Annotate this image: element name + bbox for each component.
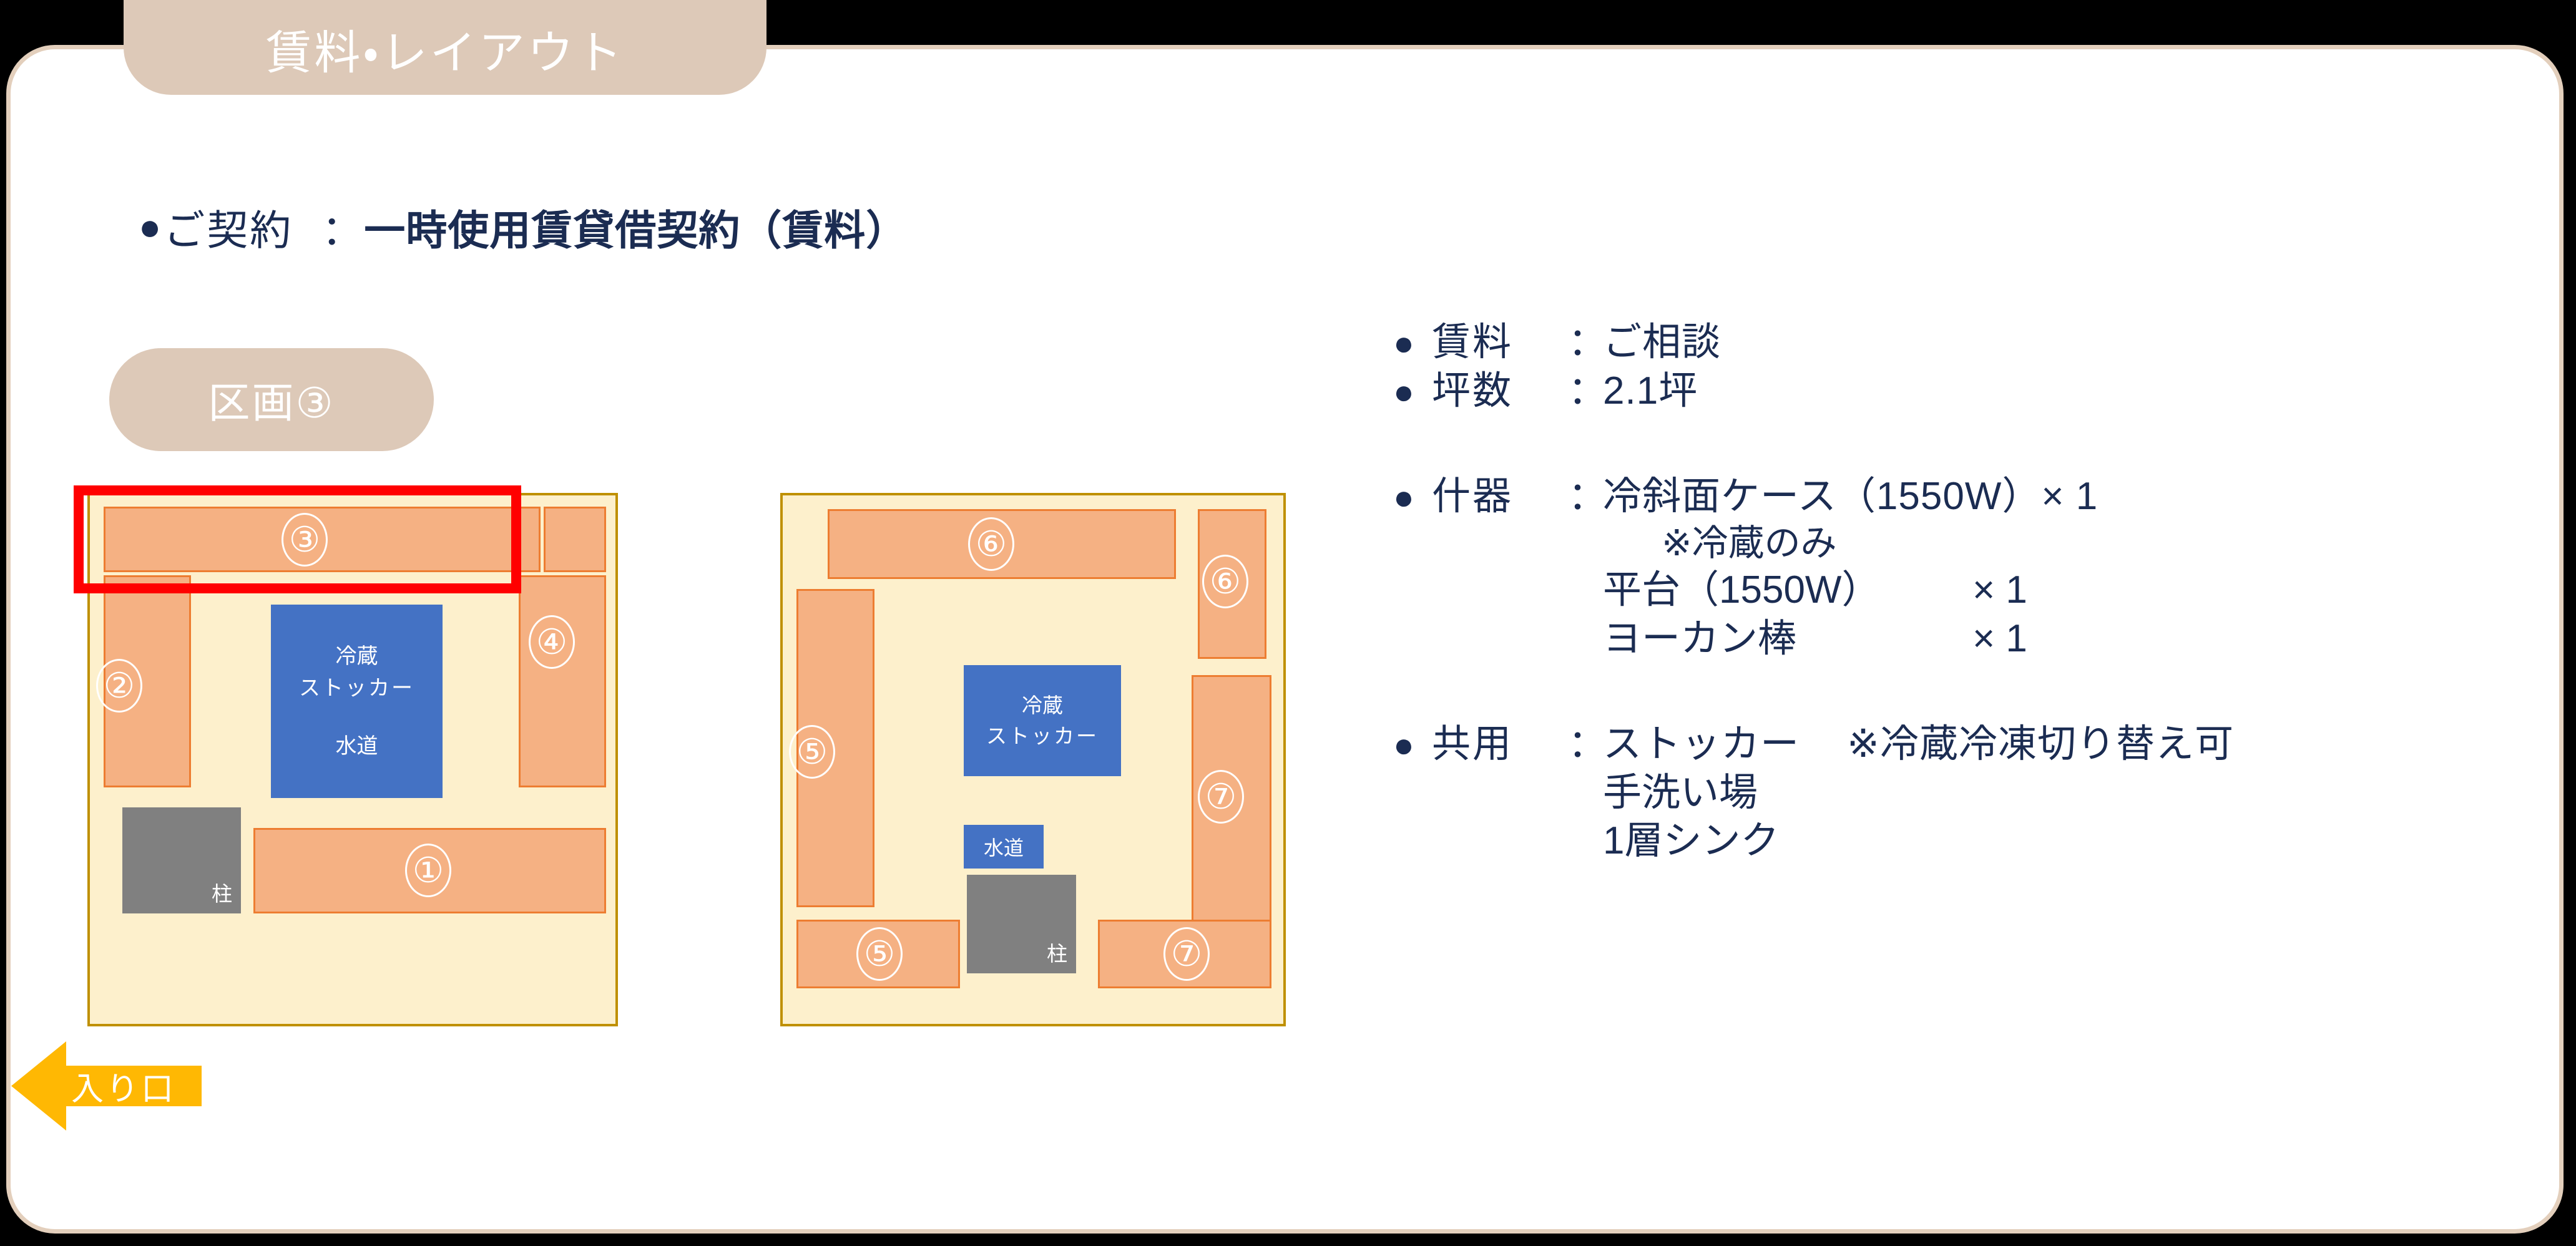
zone-number-7-bottom: ⑦ [1163,927,1210,981]
fixtures-note: ※冷蔵のみ [1393,521,2234,567]
cold-stocker-label-1: 冷蔵 [336,641,378,673]
zone-number-5-left: ⑤ [789,725,835,779]
water-supply-label: 水道 [336,731,378,762]
fixture-item-1-name: 平台（1550W） [1603,566,1972,615]
detail-row-fixture-2: ヨーカン棒× 1 [1393,615,2234,663]
zone-number-7-right: ⑦ [1198,770,1244,824]
zone-number-6-top: ⑥ [968,517,1014,571]
bullet-icon: ● [1393,480,1432,515]
contract-heading: ● ご契約 ： 一時使用賃貸借契約（賃料） [139,197,908,257]
tsubo-colon: ： [1568,367,1603,416]
rent-value: ご相談 [1603,318,1721,367]
zone-3-highlight-box [74,485,521,593]
zone-number-6-right: ⑥ [1202,555,1248,608]
shelf-zone-4-top [544,507,606,572]
rent-colon: ： [1568,318,1603,367]
pillar-box: 柱 [122,807,241,913]
fixtures-colon: ： [1568,472,1603,521]
entrance-label: 入り口 [71,1063,176,1109]
detail-row-rent: ● 賃料 ： ご相談 [1393,318,2234,367]
entrance-arrow: 入り口 [11,1038,202,1134]
zone-number-1: ① [405,844,451,897]
tsubo-label: 坪数 [1432,367,1568,416]
detail-row-tsubo: ● 坪数 ： 2.1坪 [1393,367,2234,416]
detail-row-shared: ● 共用 ： ストッカー※冷蔵冷凍切り替え可 [1393,720,2234,769]
tsubo-value: 2.1坪 [1603,367,1698,416]
details-panel: ● 賃料 ： ご相談 ● 坪数 ： 2.1坪 ● 什器 ： 冷斜面ケース（155… [1393,318,2234,865]
zone-number-5-bottom: ⑤ [856,927,903,981]
block-badge-label: 区画③ [208,369,335,430]
cold-stocker-label-2: ストッカー [299,673,414,704]
cold-stocker-box: 冷蔵 ストッカー [964,665,1121,776]
pillar-label: 柱 [212,877,241,913]
bullet-icon: ● [1393,326,1432,361]
pillar-label: 柱 [1047,937,1076,973]
zone-number-4: ④ [529,615,575,669]
cold-stocker-box: 冷蔵 ストッカー 水道 [271,605,443,798]
water-supply-box: 水道 [964,825,1044,869]
spacer [1393,663,2234,720]
pillar-box: 柱 [967,875,1076,973]
contract-value: 一時使用賃貸借契約（賃料） [364,197,908,257]
shared-label: 共用 [1432,720,1568,769]
bullet-icon: ● [1393,728,1432,762]
cold-stocker-label-1: 冷蔵 [1022,690,1063,721]
contract-colon: ： [321,197,363,257]
shelf-zone-4 [519,575,606,787]
section-title-text: 賃料・レイアウト [265,16,624,82]
shared-item-1-row: 手洗い場 [1393,769,2234,817]
fixture-item-0-name: 冷斜面ケース（1550W） [1603,472,2041,521]
fixtures-label: 什器 [1432,472,1568,521]
bullet-icon: ● [139,208,161,246]
rent-label: 賃料 [1432,318,1568,367]
zone-number-2: ② [96,659,142,713]
block-badge: 区画③ [109,348,434,451]
fixture-item-2-qty: × 1 [1972,615,2027,663]
shared-item-0: ストッカー [1603,723,1800,766]
cold-stocker-label-2: ストッカー [986,721,1099,752]
shared-colon: ： [1568,720,1603,769]
fixture-item-1-qty: × 1 [1972,566,2027,615]
detail-row-fixture-1: 平台（1550W）× 1 [1393,566,2234,615]
bullet-icon: ● [1393,374,1432,409]
fixture-item-2-name: ヨーカン棒 [1603,615,1972,663]
floor-plan-right: ⑥ ⑥ ⑤ ⑦ 冷蔵 ストッカー 水道 柱 ⑤ ⑦ [780,493,1286,1026]
shared-item-2-row: 1層シンク [1393,817,2234,865]
contract-label: ご契約 [164,197,293,257]
section-title-pill: 賃料・レイアウト [124,0,766,95]
spacer [1393,415,2234,472]
shared-note: ※冷蔵冷凍切り替え可 [1847,723,2234,766]
detail-row-fixtures: ● 什器 ： 冷斜面ケース（1550W）× 1 [1393,472,2234,521]
fixture-item-0-qty: × 1 [2041,472,2098,521]
water-supply-label: 水道 [984,832,1024,861]
